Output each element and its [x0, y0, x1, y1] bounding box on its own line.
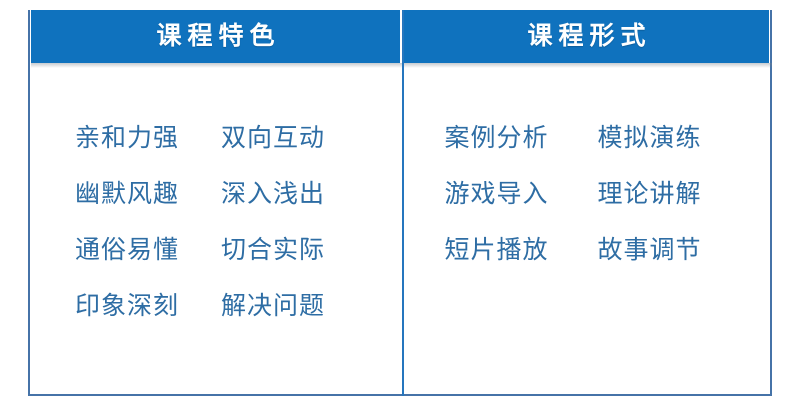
panel-header-course-features: 课程特色: [31, 10, 400, 63]
two-column-panel-board: 课程特色 亲和力强 双向互动 幽默风趣 深入浅出 通俗易懂 切合实际 印象深刻 …: [28, 10, 772, 396]
item-cell: 切合实际: [221, 235, 325, 267]
item-cell: 理论讲解: [597, 179, 701, 211]
item-cell: 故事调节: [597, 235, 701, 267]
item-cell: 幽默风趣: [75, 179, 179, 211]
panel-course-formats: 课程形式 案例分析 模拟演练 游戏导入 理论讲解 短片播放 故事调节: [402, 10, 770, 394]
item-cell: 深入浅出: [221, 179, 325, 211]
panel-header-course-formats: 课程形式: [404, 10, 769, 63]
item-grid-course-features: 亲和力强 双向互动 幽默风趣 深入浅出 通俗易懂 切合实际 印象深刻 解决问题: [30, 123, 402, 323]
item-cell: 解决问题: [221, 291, 325, 323]
panel-body-course-formats: 案例分析 模拟演练 游戏导入 理论讲解 短片播放 故事调节: [402, 63, 770, 394]
item-cell: 游戏导入: [444, 179, 548, 211]
panel-header-title-course-features: 课程特色: [150, 10, 280, 63]
item-cell: 短片播放: [444, 235, 548, 267]
item-grid-course-formats: 案例分析 模拟演练 游戏导入 理论讲解 短片播放 故事调节: [402, 123, 770, 267]
item-cell: 亲和力强: [75, 123, 179, 155]
panel-header-title-course-formats: 课程形式: [521, 10, 651, 63]
panel-body-course-features: 亲和力强 双向互动 幽默风趣 深入浅出 通俗易懂 切合实际 印象深刻 解决问题: [30, 63, 402, 394]
item-cell: 双向互动: [221, 123, 325, 155]
item-cell: 通俗易懂: [75, 235, 179, 267]
column-divider: [402, 10, 404, 396]
item-cell: 模拟演练: [597, 123, 701, 155]
item-cell: 印象深刻: [75, 291, 179, 323]
item-cell: 案例分析: [444, 123, 548, 155]
panel-course-features: 课程特色 亲和力强 双向互动 幽默风趣 深入浅出 通俗易懂 切合实际 印象深刻 …: [30, 10, 402, 394]
